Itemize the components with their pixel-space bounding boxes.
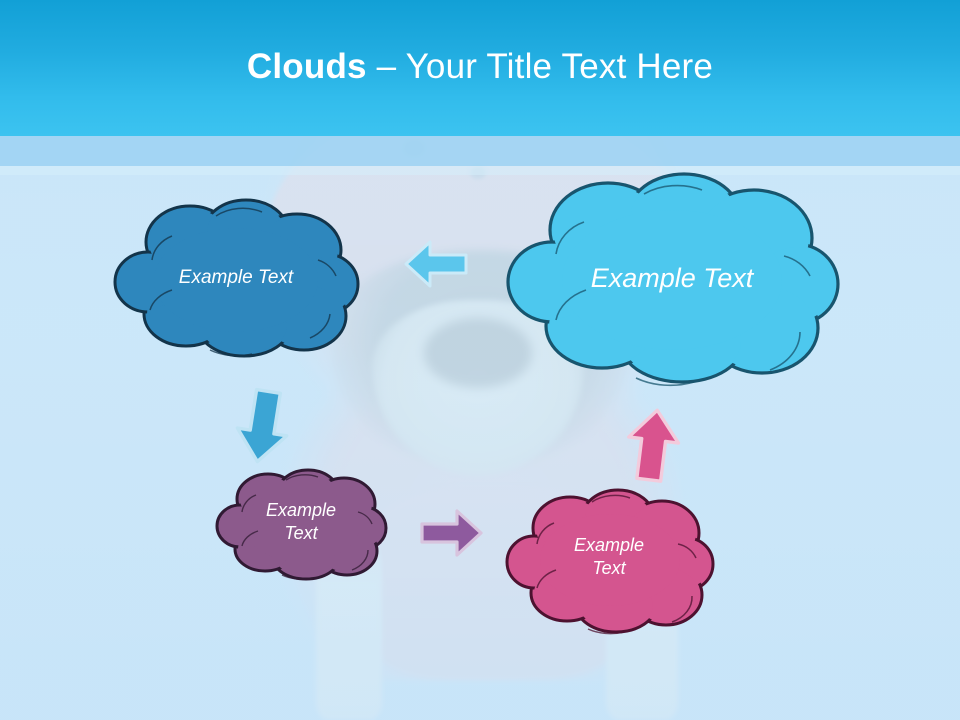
slide-canvas: Clouds – Your Title Text Here (0, 0, 960, 720)
cloud-shape-pink[interactable]: Example Text (506, 486, 712, 634)
page-title: Clouds – Your Title Text Here (0, 45, 960, 89)
cloud-shape-left[interactable]: Example Text (112, 198, 360, 358)
left-arrow-icon[interactable] (404, 238, 468, 290)
down-arrow-icon[interactable] (226, 384, 299, 469)
cloud-shape-purple[interactable]: Example Text (216, 468, 386, 580)
right-arrow-icon[interactable] (419, 508, 483, 558)
up-arrow-icon[interactable] (620, 404, 687, 487)
page-title-rest: – Your Title Text Here (367, 47, 713, 86)
cloud-shape-right[interactable]: Example Text (504, 172, 840, 384)
header-subband-upper (0, 136, 960, 166)
page-title-bold: Clouds (247, 47, 367, 86)
